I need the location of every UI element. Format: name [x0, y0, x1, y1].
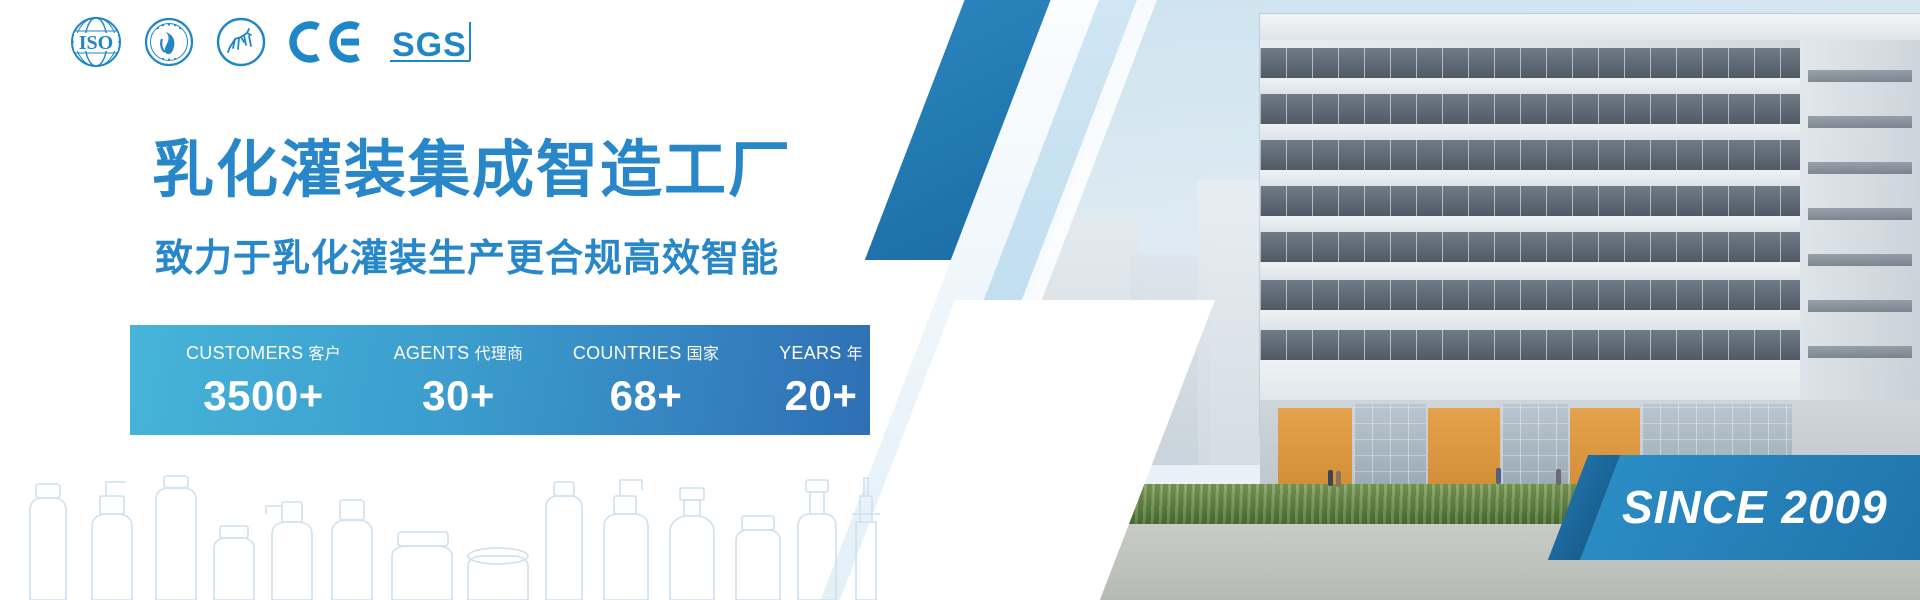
tube-outline	[30, 498, 66, 600]
stat-label-cn: 年	[847, 346, 863, 363]
building-roof-band	[1260, 14, 1920, 40]
stat-item-countries: COUNTRIES国家 68+	[546, 344, 746, 417]
stat-label-en: CUSTOMERS	[186, 343, 303, 363]
stat-item-agents: AGENTS代理商 30+	[371, 344, 546, 417]
pedestrian-figure	[1556, 469, 1561, 485]
stat-label: YEARS年	[746, 344, 896, 363]
page-subtitle: 致力于乳化灌装生产更合规高效智能	[155, 240, 779, 278]
iso-certification-logo: ISO	[70, 16, 122, 73]
stat-label-en: AGENTS	[394, 343, 470, 363]
svg-text:ISO: ISO	[79, 32, 113, 54]
pedestrian-figure	[1328, 470, 1333, 486]
stat-item-years: YEARS年 20+	[746, 344, 896, 417]
stat-label-en: COUNTRIES	[573, 343, 682, 363]
stat-label: CUSTOMERS客户	[156, 344, 371, 363]
background-building-3	[1198, 180, 1268, 465]
hero-banner: SINCE 2009 ISO	[0, 0, 1920, 600]
packaging-outline-illustrations	[0, 470, 1040, 600]
ce-certification-logo	[288, 17, 366, 72]
pedestrian-figure	[1496, 468, 1501, 484]
certification-logo-row: ISO	[70, 14, 484, 75]
svg-text:SGS: SGS	[392, 26, 467, 64]
stat-label-cn: 代理商	[474, 346, 523, 363]
stat-value: 68+	[546, 375, 746, 417]
sgs-certification-logo: SGS	[388, 14, 484, 75]
stat-item-customers: CUSTOMERS客户 3500+	[156, 344, 371, 417]
since-banner: SINCE 2009	[1580, 455, 1920, 560]
stat-value: 30+	[371, 375, 546, 417]
gmp-certification-logo	[216, 17, 266, 72]
stat-label-cn: 国家	[687, 346, 720, 363]
page-title: 乳化灌装集成智造工厂	[152, 140, 792, 202]
stat-value: 20+	[746, 375, 896, 417]
stat-label: COUNTRIES国家	[546, 344, 746, 363]
stat-label: AGENTS代理商	[371, 344, 546, 363]
china-quality-certification-logo	[144, 17, 194, 72]
since-label: SINCE 2009	[1600, 455, 1920, 560]
stat-value: 3500+	[156, 375, 371, 417]
stat-label-en: YEARS	[779, 343, 842, 363]
statistics-bar: CUSTOMERS客户 3500+ AGENTS代理商 30+ COUNTRIE…	[130, 325, 870, 435]
stat-label-cn: 客户	[308, 346, 341, 363]
building-side-tower	[1800, 40, 1920, 440]
pedestrian-figure	[1336, 471, 1341, 487]
